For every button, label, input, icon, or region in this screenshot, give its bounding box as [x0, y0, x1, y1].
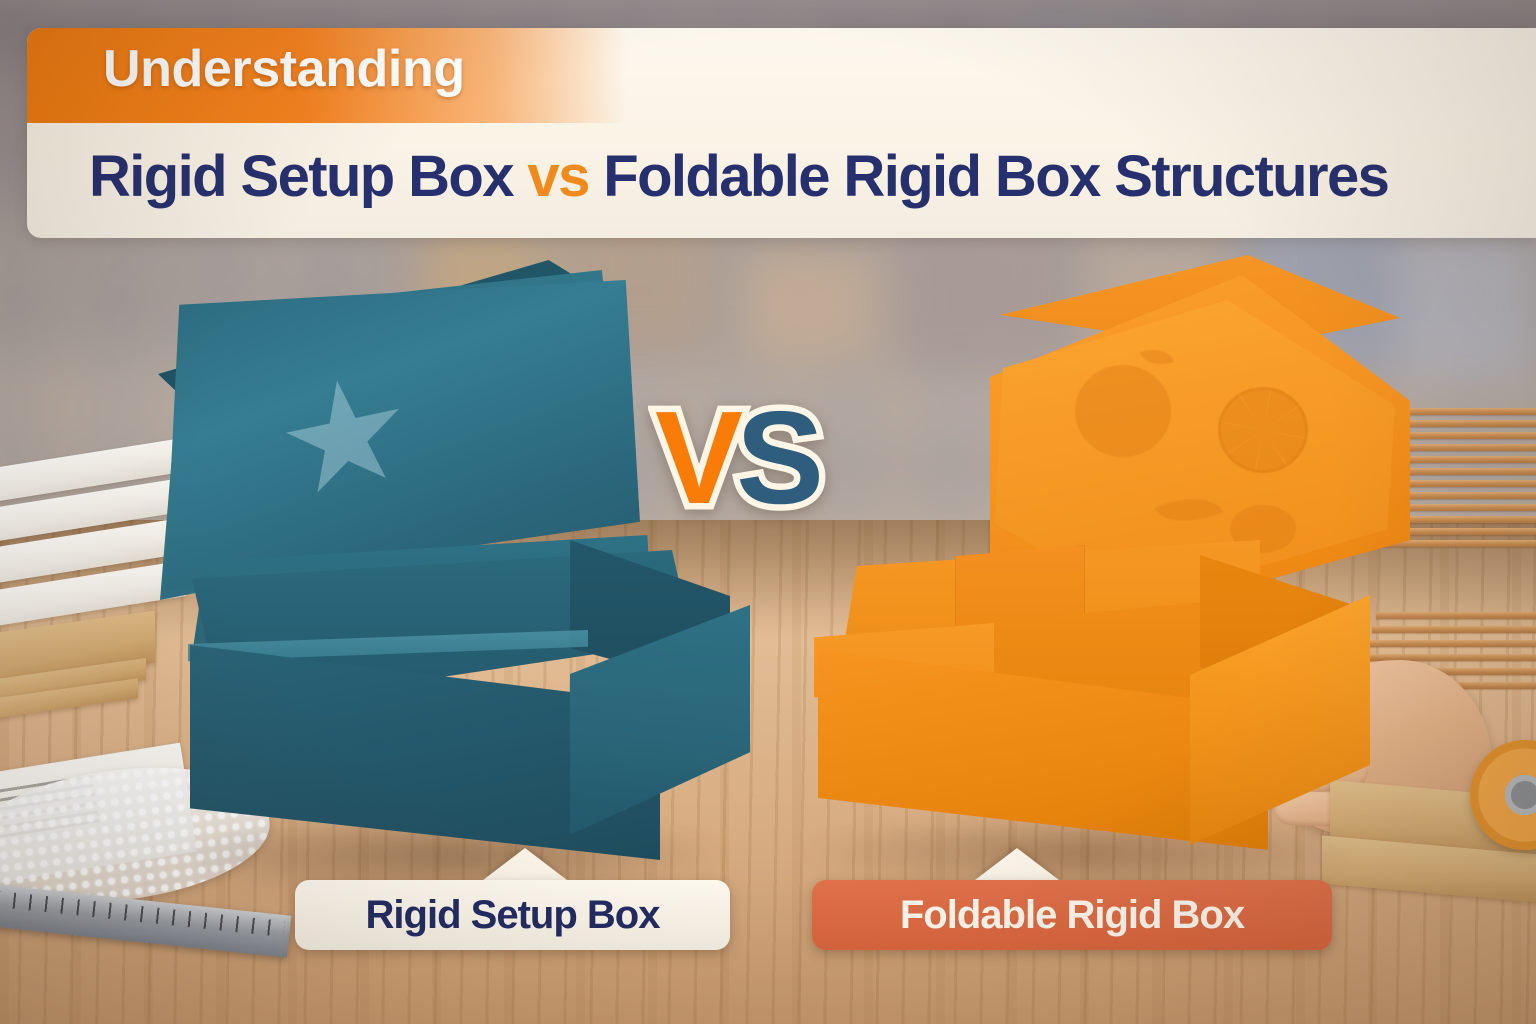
- page-title: Rigid Setup Box vs Foldable Rigid Box St…: [89, 148, 1388, 206]
- banner-kicker-text: Understanding: [103, 43, 465, 95]
- right-label-text: Foldable Rigid Box: [900, 893, 1244, 938]
- right-label-chip[interactable]: Foldable Rigid Box: [812, 880, 1332, 950]
- vs-badge-s: S: [736, 384, 817, 531]
- vs-badge-v: V: [655, 384, 736, 531]
- rigid-setup-box-visual: [140, 250, 780, 860]
- left-label-text: Rigid Setup Box: [366, 893, 660, 938]
- page-title-part2: Foldable Rigid Box Structures: [589, 144, 1389, 209]
- foldable-rigid-box-visual: [800, 255, 1460, 855]
- vs-badge: VS: [655, 392, 817, 524]
- orange-fruit-icon: [1075, 365, 1171, 457]
- left-label-chip[interactable]: Rigid Setup Box: [295, 880, 730, 950]
- left-label-pointer: [483, 848, 567, 880]
- right-label-pointer: [975, 848, 1059, 880]
- poster-canvas: VS Understanding Rigid Setup Box vs Fold…: [0, 0, 1536, 1024]
- star-emblem-icon: [278, 368, 412, 508]
- title-banner: Understanding Rigid Setup Box vs Foldabl…: [27, 28, 1536, 238]
- page-title-part1: Rigid Setup Box: [89, 144, 527, 209]
- page-title-vs: vs: [527, 144, 588, 209]
- citrus-slice-icon: [1218, 387, 1308, 473]
